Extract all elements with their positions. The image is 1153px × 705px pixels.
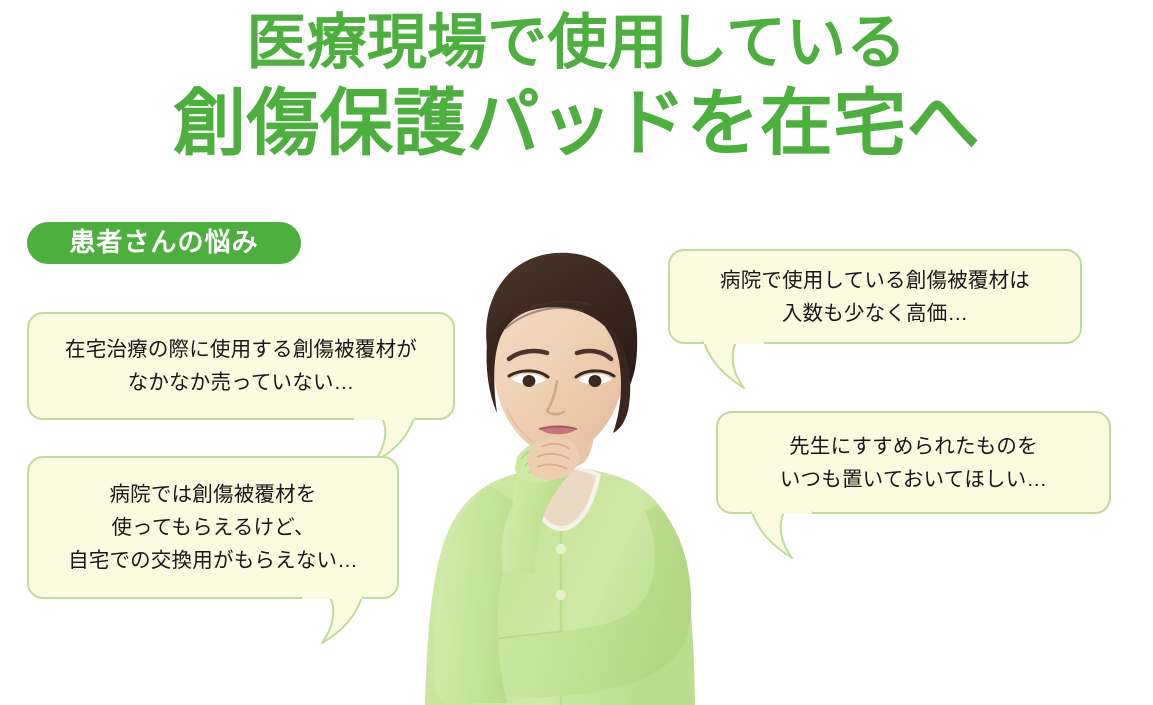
headline-line-1: 医療現場で使用している bbox=[0, 6, 1153, 80]
speech-bubble-supply: 在宅治療の際に使用する創傷被覆材が なかなか売っていない… bbox=[27, 312, 455, 420]
headline-line-2: 創傷保護パッドを在宅へ bbox=[0, 80, 1153, 168]
speech-bubble-recommend-tail bbox=[738, 510, 814, 562]
speech-bubble-supply-text: 在宅治療の際に使用する創傷被覆材が なかなか売っていない… bbox=[65, 333, 417, 399]
status-badge: 患者さんの悩み bbox=[27, 222, 301, 264]
speech-bubble-cost-text: 病院で使用している創傷被覆材は 入数も少なく高価… bbox=[720, 264, 1030, 330]
speech-bubble-hospital: 病院では創傷被覆材を 使ってもらえるけど、 自宅での交換用がもらえない… bbox=[27, 456, 399, 599]
head bbox=[486, 253, 637, 455]
speech-bubble-cost: 病院で使用している創傷被覆材は 入数も少なく高価… bbox=[668, 249, 1082, 344]
speech-bubble-hospital-text: 病院では創傷被覆材を 使ってもらえるけど、 自宅での交換用がもらえない… bbox=[68, 478, 358, 577]
speech-bubble-recommend: 先生にすすめられたものを いつも置いておいてほしい… bbox=[716, 411, 1111, 514]
speech-bubble-hospital-tail bbox=[300, 595, 376, 647]
page-title: 医療現場で使用している 創傷保護パッドを在宅へ bbox=[0, 6, 1153, 168]
speech-bubble-recommend-text: 先生にすすめられたものを いつも置いておいてほしい… bbox=[780, 430, 1047, 496]
promo-banner: 医療現場で使用している 創傷保護パッドを在宅へ 患者さんの悩み bbox=[0, 0, 1153, 705]
badge-label: 患者さんの悩み bbox=[69, 229, 258, 257]
patient-illustration bbox=[395, 243, 725, 705]
